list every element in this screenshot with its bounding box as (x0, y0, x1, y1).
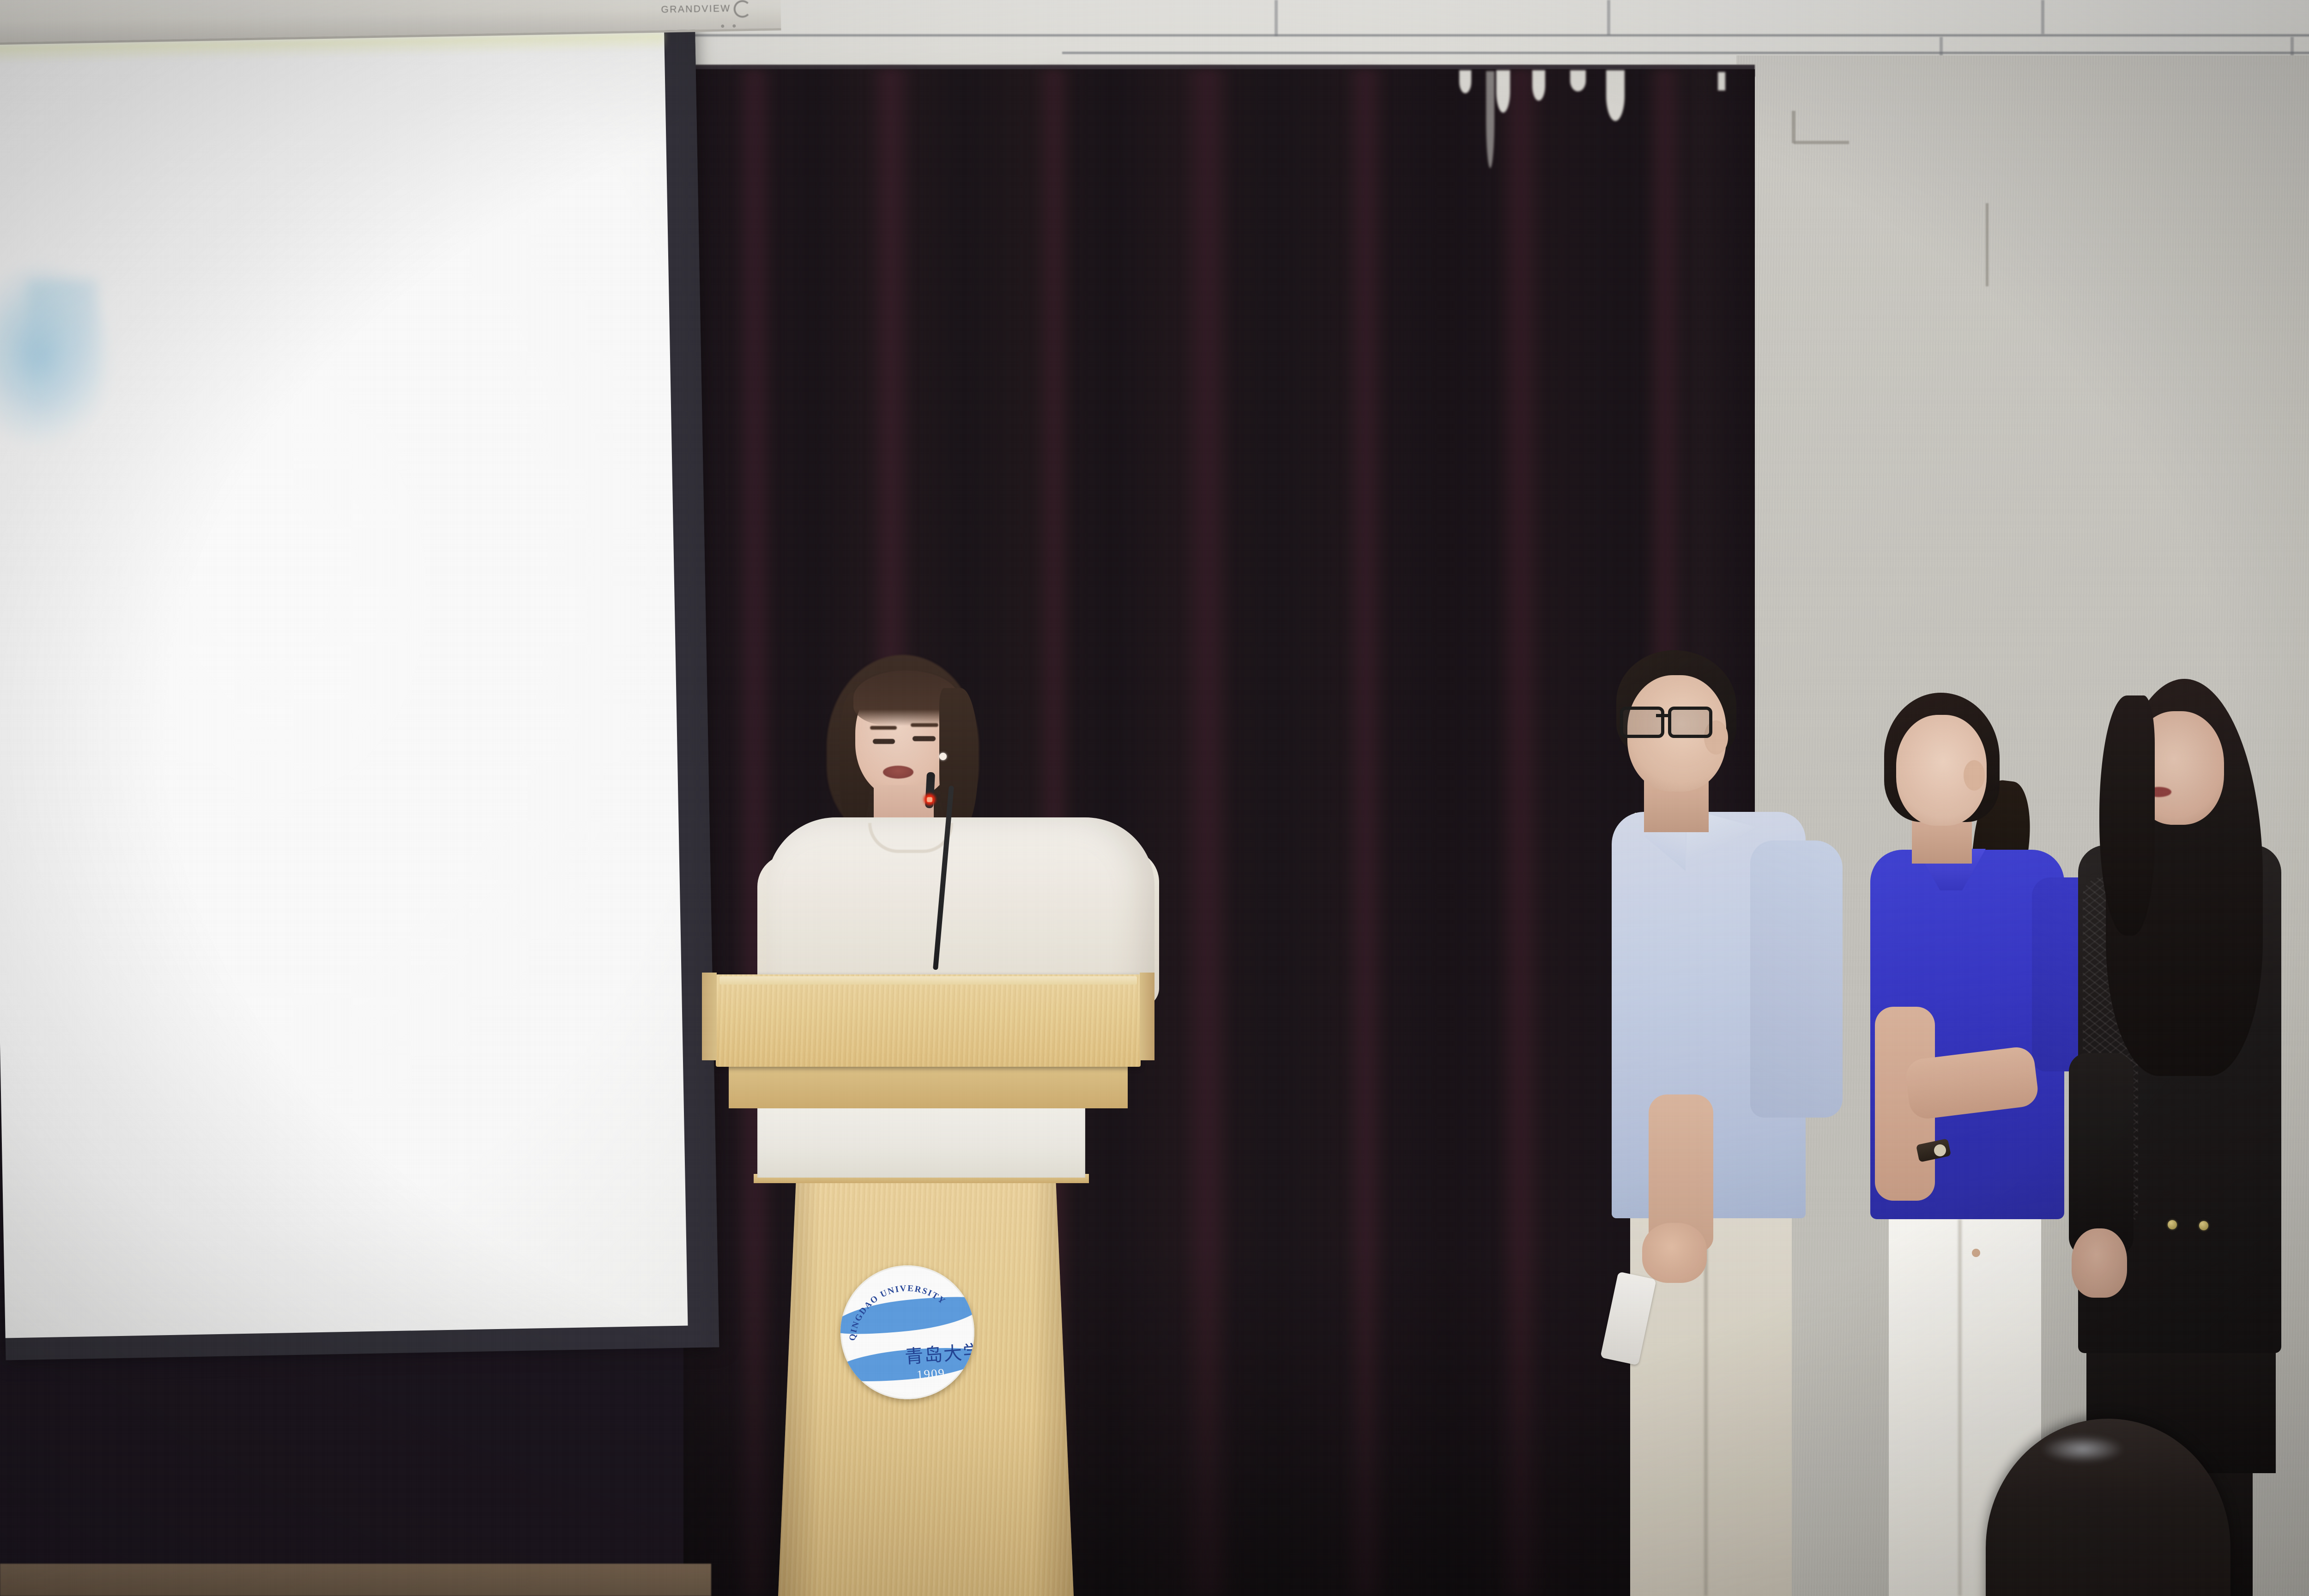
lectern-white-panel (757, 1099, 1085, 1178)
lectern-desktop (716, 974, 1141, 1067)
curtain-gap (1486, 71, 1494, 168)
projection-screen-frame (0, 22, 719, 1360)
circular-arrow-logo-icon (733, 0, 751, 18)
wall-crack (1794, 141, 1849, 144)
student3-hand (2072, 1228, 2127, 1298)
ceiling-rib (2041, 0, 2044, 34)
speaker-hair-right (939, 688, 978, 831)
audience-hair-highlight (2041, 1435, 2124, 1463)
speaker-mouth (883, 766, 913, 779)
student1-hand (1642, 1223, 1707, 1283)
student3-hair-front (2099, 695, 2155, 936)
student2-jeans-button (1972, 1249, 1980, 1257)
student2-ear (1964, 760, 1985, 791)
speaker-eye-left (873, 739, 895, 744)
curtain-gap (1606, 70, 1625, 121)
student3-arm (2069, 1053, 2134, 1256)
qingdao-university-seal: QINGDAO UNIVERSITY 青岛大学 1909 (840, 1265, 974, 1399)
curtain-gap (1718, 72, 1725, 91)
student2-jeans-seam (1958, 1219, 1962, 1596)
student3-gold-button (2199, 1221, 2208, 1230)
glasses-icon (1620, 707, 1719, 734)
speaker-earring (939, 753, 947, 760)
auditorium-photo: GRANDVIEW (0, 0, 2309, 1596)
ceiling-rib (1275, 0, 1278, 36)
speaker-eye-right (913, 736, 936, 741)
housing-brand-label: GRANDVIEW (661, 3, 731, 16)
student2-watch-face (1934, 1144, 1946, 1156)
wall-crack (1986, 203, 1989, 286)
wall-crack (1792, 111, 1795, 143)
floor-strip (0, 1564, 711, 1596)
svg-text:QINGDAO UNIVERSITY: QINGDAO UNIVERSITY (848, 1283, 948, 1341)
projection-screen-surface[interactable] (0, 29, 688, 1338)
curtain-gap (1532, 70, 1545, 101)
microphone-led-core (927, 797, 932, 802)
ceiling-rib (1607, 0, 1610, 35)
curtain-gap (1496, 70, 1510, 113)
ceiling-rib (2291, 37, 2294, 57)
student1-sleeve (1750, 840, 1843, 1118)
seal-english-text-arc: QINGDAO UNIVERSITY (840, 1265, 974, 1399)
speaker-eyebrow-right (911, 723, 938, 727)
screen-faint-image-detail (28, 280, 99, 420)
lectern-desktop-lip (719, 976, 1137, 985)
curtain-gap (1570, 70, 1586, 91)
seal-year: 1909 (916, 1366, 946, 1382)
lectern-side-left (702, 973, 717, 1060)
ceiling-seam (1062, 52, 2309, 54)
housing-screws (721, 21, 745, 25)
speaker-eyebrow-left (870, 726, 897, 730)
seal-chinese-text: 青岛大学 (904, 1336, 974, 1369)
curtain-gap (1459, 70, 1471, 93)
lectern: QINGDAO UNIVERSITY 青岛大学 1909 (702, 961, 1164, 1596)
lectern-apron (729, 1066, 1128, 1108)
lectern-side-right (1140, 973, 1154, 1060)
student3-gold-button (2168, 1220, 2177, 1229)
